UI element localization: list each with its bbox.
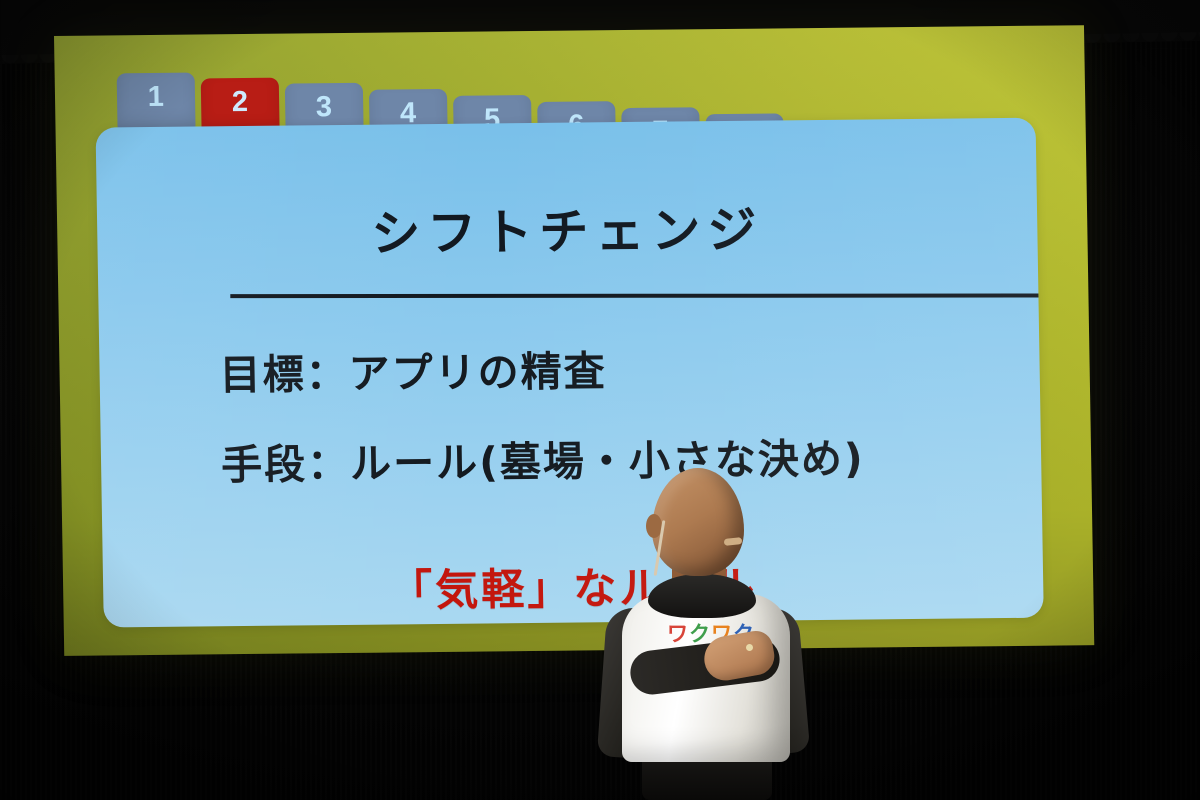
slide-title: シフトチェンジ (97, 188, 1038, 269)
projection-screen: 1 2 3 4 5 6 7 8 シフトチェンジ 目標：アプリの精査 手段：ルール… (54, 25, 1094, 656)
speaker-figure: ワクワク (596, 468, 826, 800)
speaker-collar (648, 574, 756, 618)
slide-tab-3-label: 3 (316, 91, 333, 124)
slide-tab-1-label: 1 (147, 81, 164, 114)
slide-tab-2-label: 2 (232, 86, 249, 119)
slide-tab-1[interactable]: 1 (117, 73, 196, 130)
slide-tab-strip: 1 2 3 4 5 6 7 8 (117, 66, 784, 129)
slide-body-line-1: 目標：アプリの精査 (219, 337, 607, 401)
speaker-ring (746, 644, 753, 651)
shirt-char-1: ワ (667, 622, 689, 646)
title-underline (230, 293, 1043, 298)
presentation-photo: 1 2 3 4 5 6 7 8 シフトチェンジ 目標：アプリの精査 手段：ルール… (0, 0, 1200, 800)
speaker-head (652, 468, 744, 576)
slide-content-panel: シフトチェンジ 目標：アプリの精査 手段：ルール(墓場・小さな決め) 「気軽」な… (96, 118, 1044, 628)
slide-accent-line: 「気軽」なルール (103, 550, 1044, 622)
